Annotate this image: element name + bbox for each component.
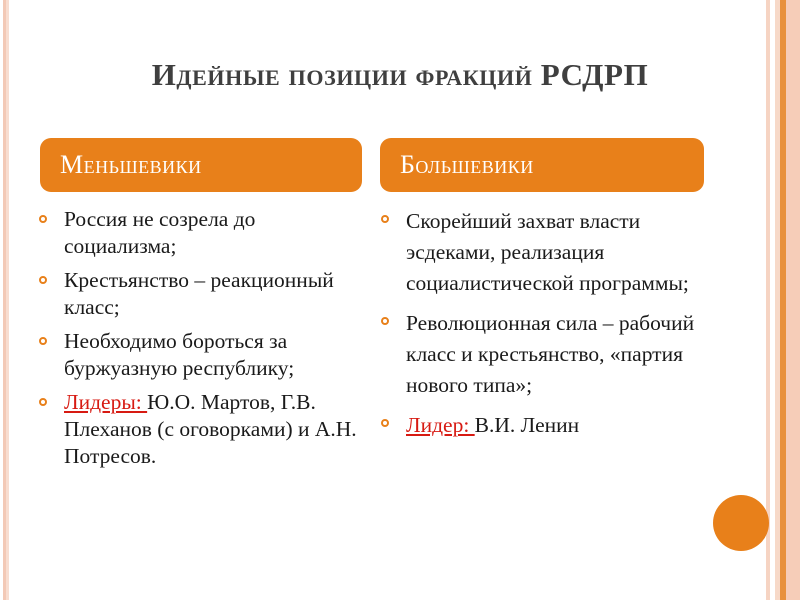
list-item-text: Скорейший захват власти эсдеками, реализ…	[406, 209, 689, 295]
faction-header-mensheviki: Меньшевики	[40, 138, 362, 192]
list-item: Крестьянство – реакционный класс;	[30, 267, 370, 321]
bullet-ring-icon	[39, 276, 47, 284]
list-item: Лидер: В.И. Ленин	[372, 410, 702, 441]
decorative-circle	[713, 495, 769, 551]
list-item-lead: Лидер:	[406, 413, 475, 437]
bullet-list-mensheviki: Россия не созрела до социализма; Крестья…	[30, 206, 370, 470]
list-item: Россия не созрела до социализма;	[30, 206, 370, 260]
column-bolsheviki: Скорейший захват власти эсдеками, реализ…	[372, 206, 702, 450]
bullet-ring-icon	[39, 337, 47, 345]
bullet-ring-icon	[381, 419, 389, 427]
slide-canvas: Идейные позиции фракций РСДРП Меньшевики…	[0, 0, 800, 600]
list-item-lead: Лидеры:	[64, 390, 147, 414]
list-item-text: Необходимо бороться за буржуазную респуб…	[64, 329, 294, 380]
list-item: Революционная сила – рабочий класс и кре…	[372, 308, 702, 401]
slide-title: Идейные позиции фракций РСДРП	[60, 55, 740, 95]
faction-header-bolsheviki: Большевики	[380, 138, 704, 192]
right-edge-stripe-wide	[786, 0, 800, 600]
faction-header-label: Большевики	[400, 150, 534, 180]
column-mensheviki: Россия не созрела до социализма; Крестья…	[30, 206, 370, 477]
list-item: Скорейший захват власти эсдеками, реализ…	[372, 206, 702, 299]
left-edge-stripe-inner	[6, 0, 9, 600]
list-item-text: Крестьянство – реакционный класс;	[64, 268, 334, 319]
list-item: Необходимо бороться за буржуазную респуб…	[30, 328, 370, 382]
bullet-ring-icon	[39, 215, 47, 223]
bullet-ring-icon	[39, 398, 47, 406]
bullet-ring-icon	[381, 215, 389, 223]
faction-header-label: Меньшевики	[60, 150, 202, 180]
list-item-text: В.И. Ленин	[475, 413, 580, 437]
list-item: Лидеры: Ю.О. Мартов, Г.В. Плеханов (с ог…	[30, 389, 370, 470]
list-item-text: Революционная сила – рабочий класс и кре…	[406, 311, 694, 397]
bullet-ring-icon	[381, 317, 389, 325]
list-item-text: Россия не созрела до социализма;	[64, 207, 255, 258]
bullet-list-bolsheviki: Скорейший захват власти эсдеками, реализ…	[372, 206, 702, 441]
right-edge-stripe-1	[766, 0, 770, 600]
